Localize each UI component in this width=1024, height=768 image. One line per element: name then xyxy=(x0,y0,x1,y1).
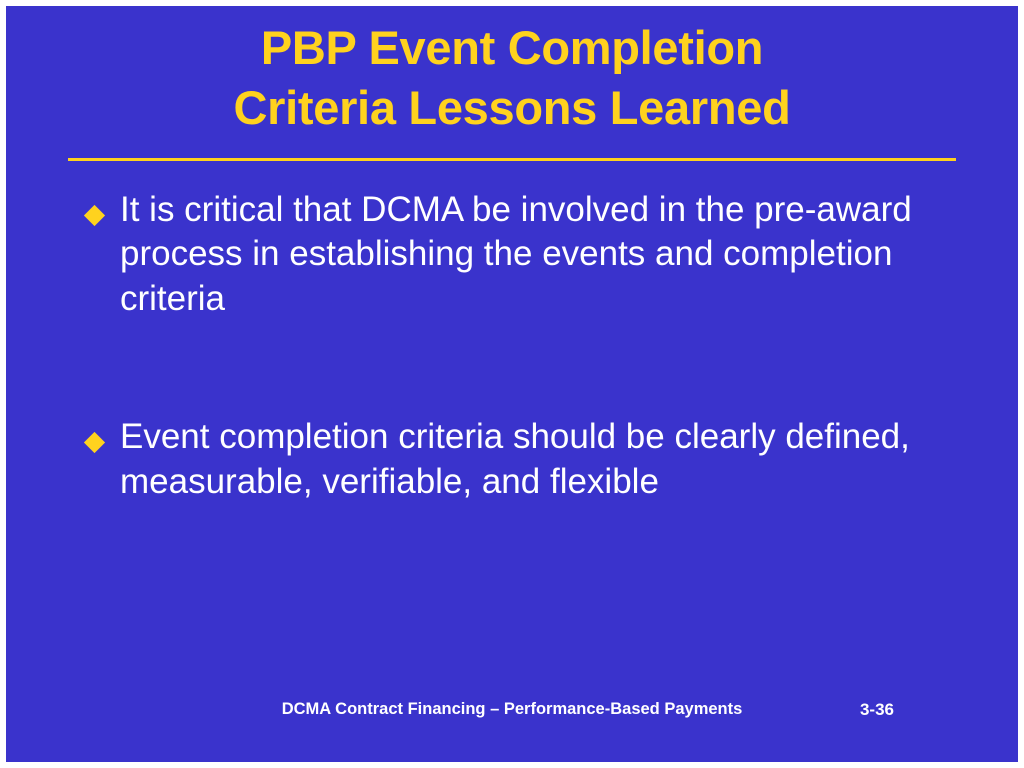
slide-title-line-1: PBP Event Completion xyxy=(60,18,964,78)
slide-border-left xyxy=(0,0,6,768)
slide-border-top xyxy=(0,0,1024,6)
slide-border-right xyxy=(1018,0,1024,768)
slide-footer: DCMA Contract Financing – Performance-Ba… xyxy=(0,700,1024,722)
slide: PBP Event Completion Criteria Lessons Le… xyxy=(0,0,1024,768)
slide-title-line-2: Criteria Lessons Learned xyxy=(60,78,964,138)
bullet-item: Event completion criteria should be clea… xyxy=(82,415,962,504)
bullet-item: It is critical that DCMA be involved in … xyxy=(82,188,962,321)
diamond-bullet-icon xyxy=(82,415,120,455)
diamond-bullet-icon xyxy=(82,188,120,228)
bullet-spacer xyxy=(82,321,962,415)
bullet-item-text: Event completion criteria should be clea… xyxy=(120,415,960,504)
title-divider xyxy=(68,158,956,161)
bullet-item-text: It is critical that DCMA be involved in … xyxy=(120,188,960,321)
slide-body: It is critical that DCMA be involved in … xyxy=(82,188,962,504)
slide-border-bottom xyxy=(0,762,1024,768)
footer-page-number: 3-36 xyxy=(860,700,894,720)
slide-title: PBP Event Completion Criteria Lessons Le… xyxy=(60,18,964,138)
